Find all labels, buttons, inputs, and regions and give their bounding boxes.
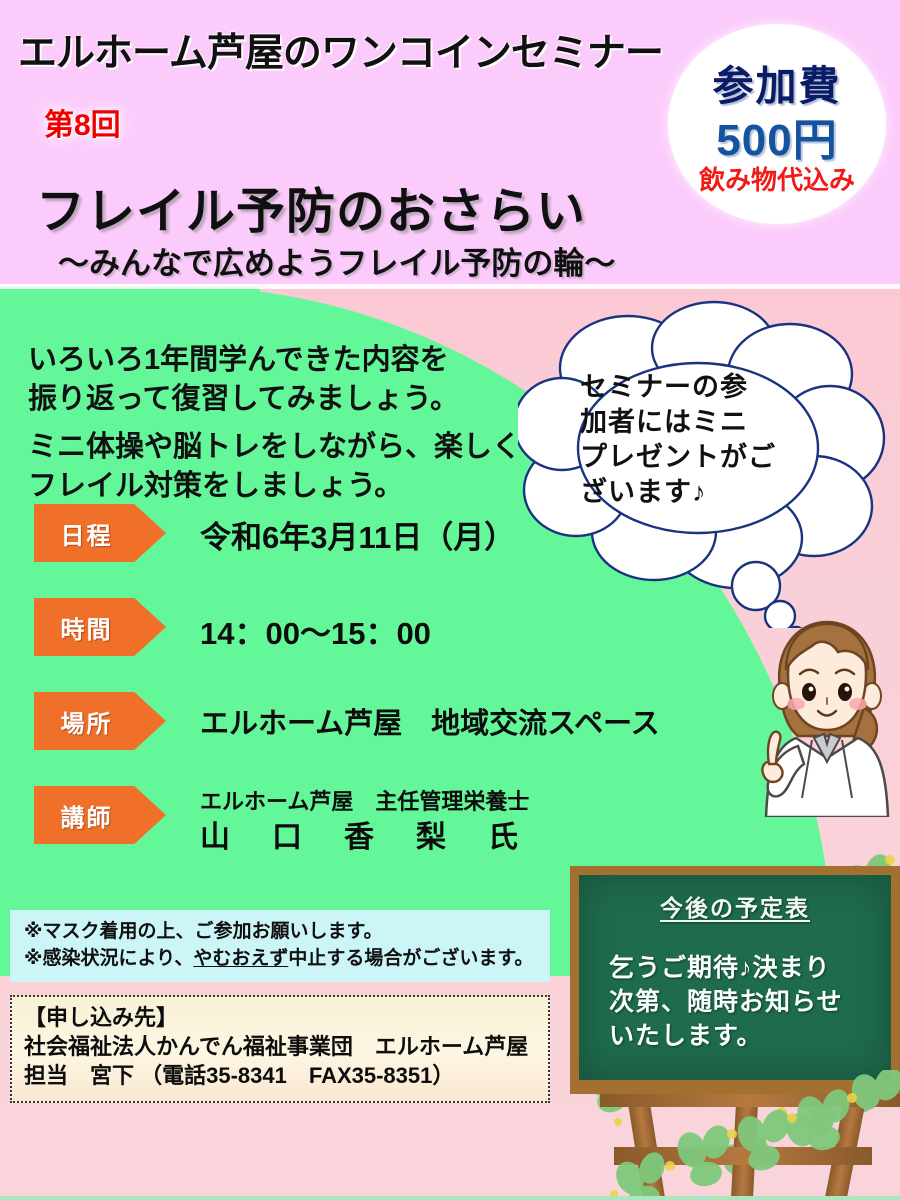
contact-person: 担当 宮下 （電話35-8341 FAX35-8351） bbox=[24, 1061, 536, 1090]
lead-paragraph-1: いろいろ1年間学んできた内容を 振り返って復習してみましょう。 bbox=[28, 341, 459, 418]
thought-bubble: セミナーの参 加者にはミニ プレゼントがご ざいます♪ bbox=[518, 298, 898, 628]
info-row-label: 時間 bbox=[34, 598, 139, 656]
info-row-label-tag: 時間 bbox=[34, 598, 166, 656]
notice-line-2-b: 中止する場合がございます。 bbox=[288, 948, 533, 969]
info-row-lecturer: 講師 bbox=[34, 786, 166, 844]
info-row-place: 場所 bbox=[34, 692, 166, 750]
notice-line-2: ※感染状況により、やむおえず中止する場合がございます。 bbox=[24, 946, 536, 973]
blackboard: 今後の予定表 乞うご期待♪決まり 次第、随時お知らせ いたします。 bbox=[570, 866, 900, 1094]
seminar-poster: エルホーム芦屋のワンコインセミナー 第8回 フレイル予防のおさらい ～みんなで広… bbox=[0, 0, 900, 1200]
header-divider bbox=[0, 284, 900, 289]
lead-paragraph-2: ミニ体操や脳トレをしながら、楽しく フレイル対策をしましょう。 bbox=[28, 428, 521, 505]
info-row-value-place: エルホーム芦屋 地域交流スペース bbox=[200, 700, 660, 742]
info-row-value-lecturer-name: 山 口 香 梨 氏 bbox=[200, 812, 524, 856]
price-label: 参加費 bbox=[668, 52, 886, 112]
notice-line-2-underline: やむおえず bbox=[193, 948, 288, 969]
easel-stand-icon bbox=[600, 1085, 900, 1200]
footer-divider bbox=[0, 1196, 900, 1200]
blackboard-body: 乞うご期待♪決まり 次第、随時お知らせ いたします。 bbox=[609, 951, 879, 1053]
edition-badge: 第8回 bbox=[44, 100, 121, 144]
info-row-time: 時間 bbox=[34, 598, 166, 656]
contact-box: 【申し込み先】 社会福祉法人かんでん福祉事業団 エルホーム芦屋 担当 宮下 （電… bbox=[10, 995, 550, 1103]
price-badge: 参加費 500円 飲み物代込み bbox=[668, 24, 886, 224]
info-row-label: 日程 bbox=[34, 504, 139, 562]
nutritionist-character-icon bbox=[752, 612, 900, 817]
info-row-label: 講師 bbox=[34, 786, 139, 844]
info-row-value-time: 14：00～15：00 bbox=[200, 608, 431, 653]
main-title: フレイル予防のおさらい bbox=[36, 172, 586, 243]
info-row-label-tag: 場所 bbox=[34, 692, 166, 750]
page-title: エルホーム芦屋のワンコインセミナー bbox=[18, 22, 663, 78]
info-row-date: 日程 bbox=[34, 504, 166, 562]
sub-title: ～みんなで広めようフレイル予防の輪～ bbox=[58, 238, 615, 283]
info-row-value-date: 令和6年3月11日（月） bbox=[200, 512, 515, 557]
notice-box: ※マスク着用の上、ご参加お願いします。 ※感染状況により、やむおえず中止する場合… bbox=[10, 910, 550, 982]
notice-line-1: ※マスク着用の上、ご参加お願いします。 bbox=[24, 919, 536, 946]
info-row-label-tag: 日程 bbox=[34, 504, 166, 562]
info-row-label-tag: 講師 bbox=[34, 786, 166, 844]
price-amount: 500円 bbox=[668, 104, 886, 168]
bubble-text: セミナーの参 加者にはミニ プレゼントがご ざいます♪ bbox=[580, 370, 830, 510]
notice-line-2-a: ※感染状況により、 bbox=[24, 948, 193, 969]
contact-heading: 【申し込み先】 bbox=[24, 1003, 536, 1032]
info-row-label: 場所 bbox=[34, 692, 139, 750]
price-note: 飲み物代込み bbox=[668, 160, 886, 197]
contact-org: 社会福祉法人かんでん福祉事業団 エルホーム芦屋 bbox=[24, 1032, 536, 1061]
blackboard-title: 今後の予定表 bbox=[579, 889, 891, 923]
